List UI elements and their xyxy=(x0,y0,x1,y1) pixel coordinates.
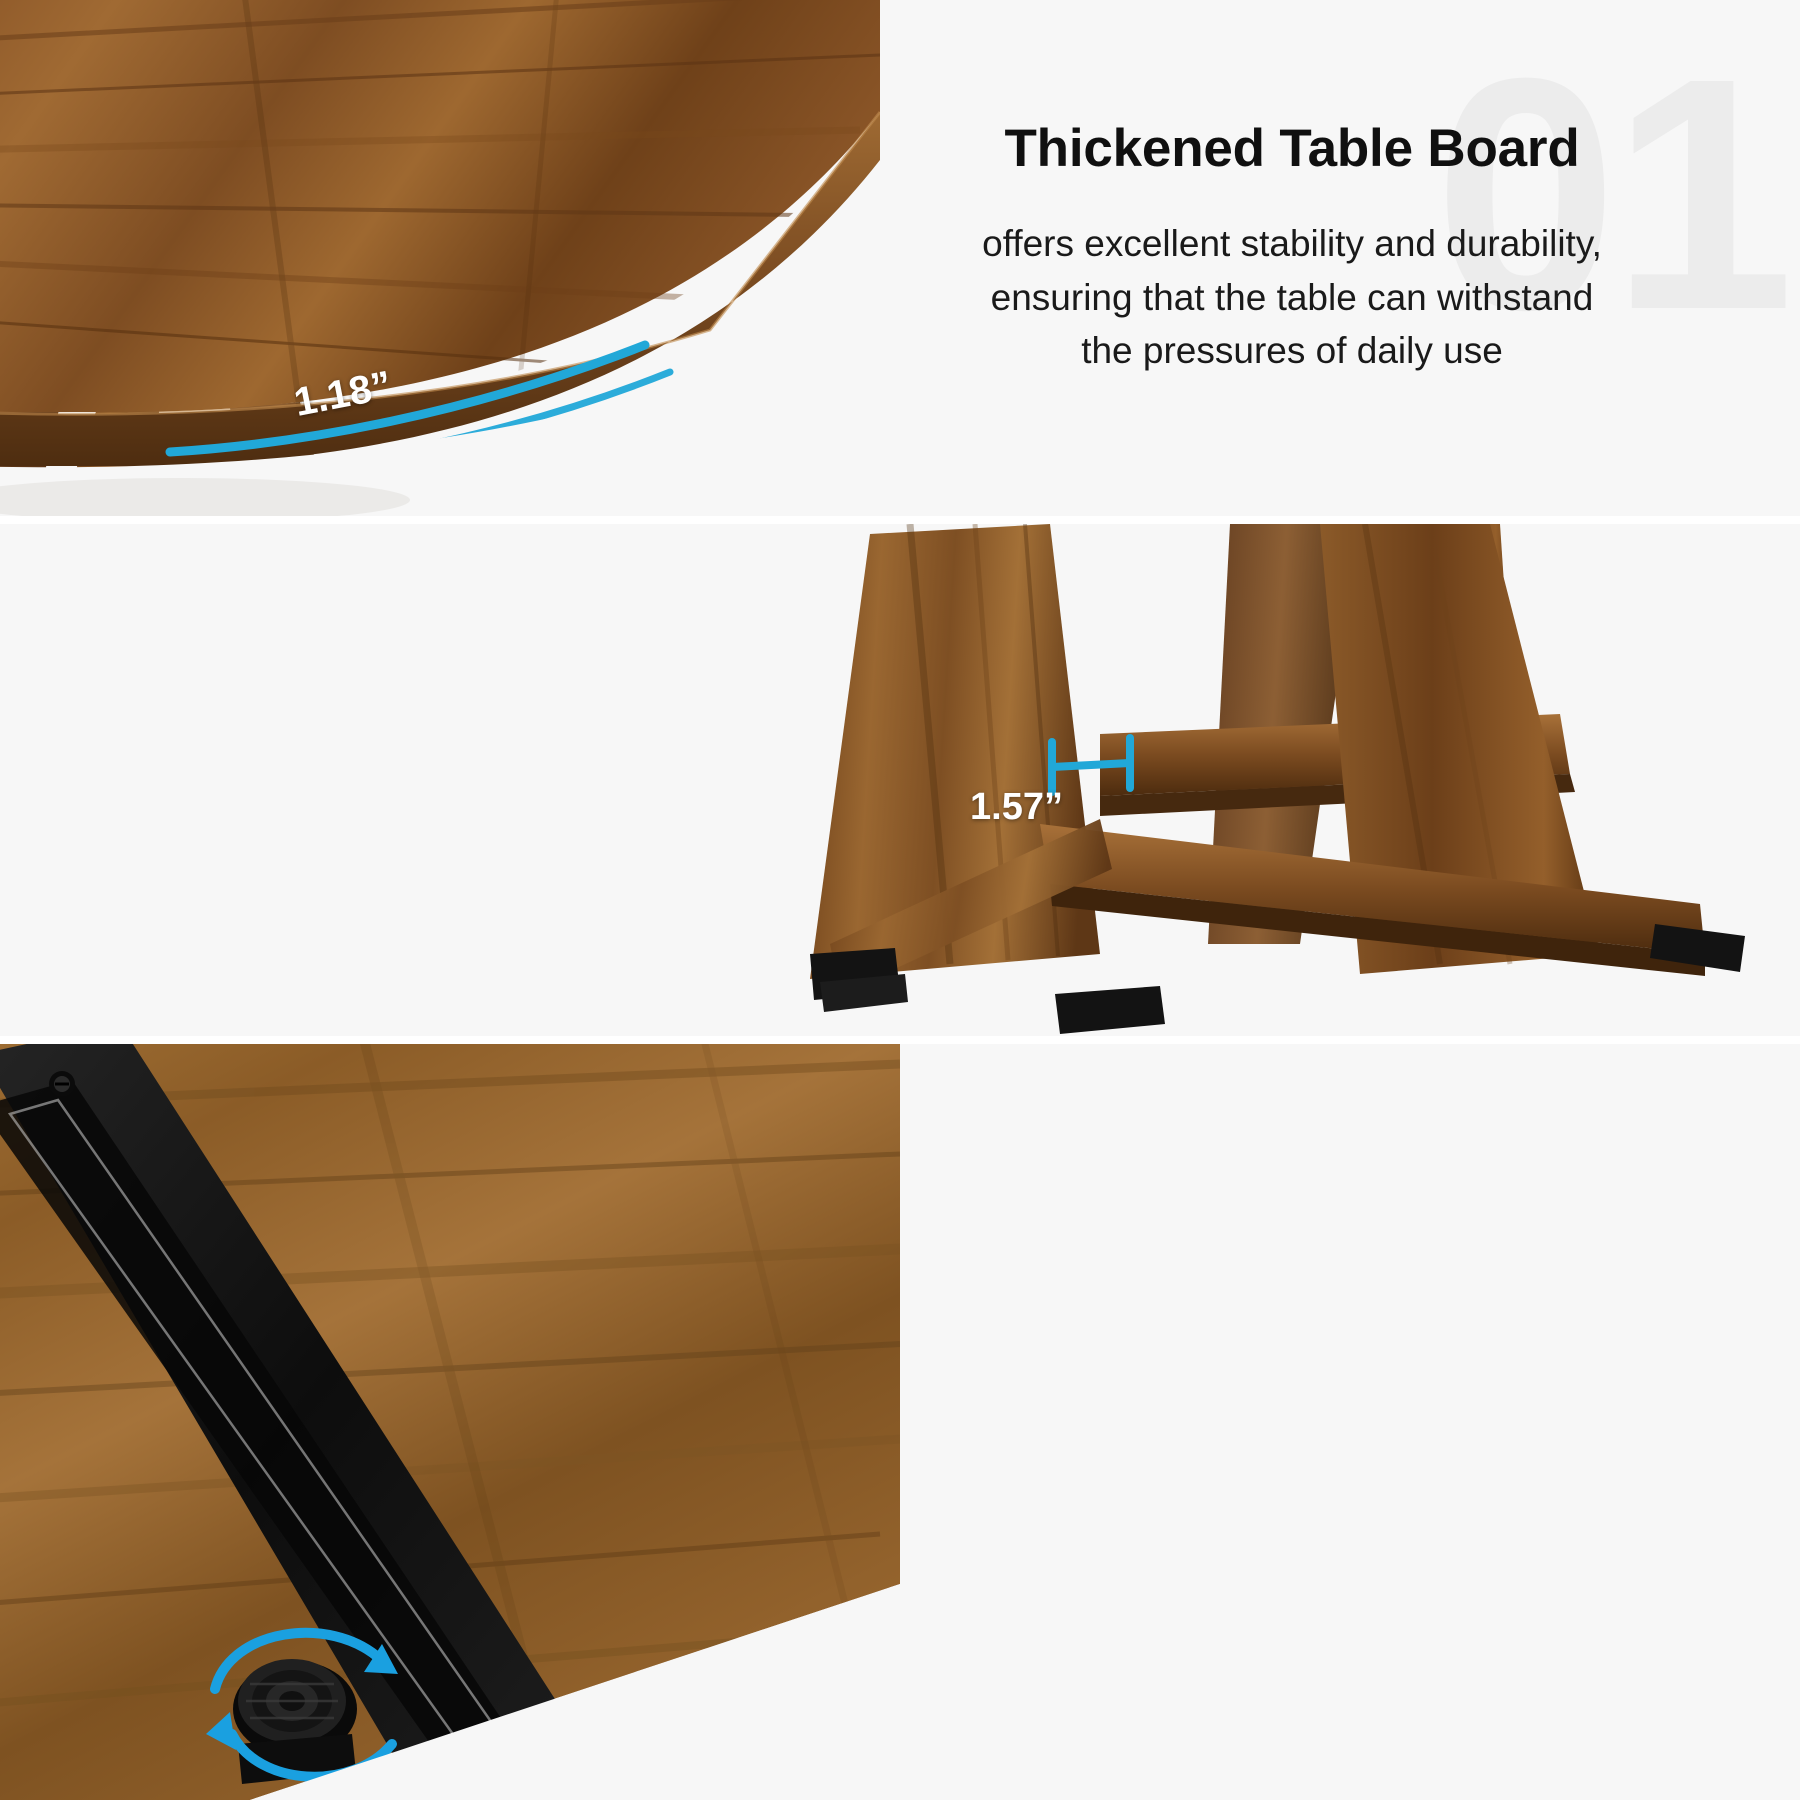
base-thickness-value-157: 1.57” xyxy=(970,786,1063,829)
divider-2 xyxy=(0,1036,1800,1044)
adjustable-foot-pad xyxy=(233,1659,357,1784)
panel-2-product-image xyxy=(800,524,1800,1036)
panel-1-product-image xyxy=(0,0,880,516)
panel-1-body-line-2: ensuring that the table can withstand xyxy=(812,271,1772,325)
table-base-illustration xyxy=(800,524,1800,1036)
divider-1 xyxy=(0,516,1800,524)
table-top-edge-illustration xyxy=(0,0,880,516)
panel-1-body: offers excellent stability and durabilit… xyxy=(812,217,1772,378)
infographic-sheet: 01 xyxy=(0,0,1800,1800)
feature-panel-1: 01 xyxy=(0,0,1800,516)
panel-1-title: Thickened Table Board xyxy=(812,118,1772,179)
panel-1-text-block: Thickened Table Board offers excellent s… xyxy=(812,118,1772,378)
panel-1-body-line-3: the pressures of daily use xyxy=(812,324,1772,378)
panel-3-product-image xyxy=(0,1044,900,1800)
frame-screw xyxy=(49,1071,75,1097)
panel-1-body-line-1: offers excellent stability and durabilit… xyxy=(812,217,1772,271)
foot-pad-illustration xyxy=(0,1044,900,1800)
